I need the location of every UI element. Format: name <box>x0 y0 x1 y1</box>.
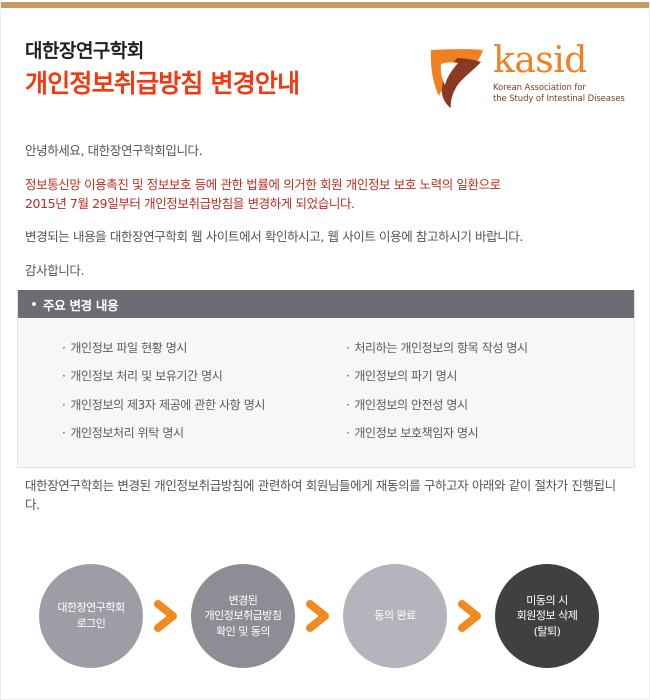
flow-step-line: 변경된 <box>205 593 282 609</box>
list-item: ·개인정보 처리 및 보유기간 명시 <box>62 368 326 385</box>
flow-step-line: 개인정보취급방침 <box>205 608 282 624</box>
main-changes-panel: 주요 변경 내용 ·개인정보 파일 현황 명시 ·개인정보 처리 및 보유기간 … <box>17 290 635 468</box>
flow-step-line: 미동의 시 <box>517 593 578 609</box>
flow-step-review-consent: 변경된 개인정보취급방침 확인 및 동의 <box>191 564 295 668</box>
page-title: 개인정보취급방침 변경안내 <box>25 68 299 101</box>
flow-step-line: 회원정보 삭제 <box>517 608 578 624</box>
flow-step-withdrawal: 미동의 시 회원정보 삭제 (탈퇴) <box>495 564 599 668</box>
kasid-ribbon-logo-icon <box>427 44 489 110</box>
bullet-dot-icon: · <box>62 426 65 440</box>
intro-section: 안녕하세요, 대한장연구학회입니다. 정보통신망 이용촉진 및 정보보호 등에 … <box>25 142 629 281</box>
privacy-policy-notice-page: 대한장연구학회 개인정보취급방침 변경안내 kasid Korean Assoc… <box>0 0 650 700</box>
notice-paragraph: 정보통신망 이용촉진 및 정보보호 등에 관한 법률에 의거한 회원 개인정보 … <box>25 176 629 214</box>
logo-tagline: Korean Association for the Study of Inte… <box>493 83 625 105</box>
thanks-paragraph: 감사합니다. <box>25 262 629 281</box>
bullet-dot-icon: · <box>346 341 349 355</box>
flow-step-line: 동의 완료 <box>374 608 415 624</box>
panel-title: 주요 변경 내용 <box>43 295 118 314</box>
list-item-label: 처리하는 개인정보의 항목 작성 명시 <box>354 341 527 355</box>
flow-step-label: 변경된 개인정보취급방침 확인 및 동의 <box>199 593 288 640</box>
flow-step-line: 확인 및 동의 <box>205 624 282 640</box>
flow-step-login: 대한장연구학회 로그인 <box>39 564 143 668</box>
logo-tagline-line1: Korean Association for <box>493 83 625 94</box>
flow-step-label: 미동의 시 회원정보 삭제 (탈퇴) <box>511 593 584 640</box>
bullet-dot-icon: · <box>346 426 349 440</box>
panel-bullet-icon <box>32 302 36 306</box>
panel-body: ·개인정보 파일 현황 명시 ·개인정보 처리 및 보유기간 명시 ·개인정보의… <box>18 318 634 467</box>
flow-step-line: 로그인 <box>57 616 124 632</box>
logo-text-block: kasid Korean Association for the Study o… <box>493 44 625 106</box>
list-item: ·개인정보의 파기 명시 <box>346 368 634 385</box>
chevron-right-icon <box>153 600 179 632</box>
header-titles: 대한장연구학회 개인정보취급방침 변경안내 <box>25 40 299 100</box>
flow-step-line: (탈퇴) <box>517 624 578 640</box>
organization-name: 대한장연구학회 <box>25 40 299 64</box>
panel-column-right: ·처리하는 개인정보의 항목 작성 명시 ·개인정보의 파기 명시 ·개인정보의… <box>326 340 634 443</box>
list-item-label: 개인정보 파일 현황 명시 <box>70 341 187 355</box>
bullet-dot-icon: · <box>62 398 65 412</box>
flow-step-label: 동의 완료 <box>368 608 421 624</box>
list-item: ·개인정보처리 위탁 명시 <box>62 425 326 442</box>
chevron-right-icon <box>305 600 331 632</box>
bullet-dot-icon: · <box>346 369 349 383</box>
flow-step-label: 대한장연구학회 로그인 <box>51 600 130 631</box>
list-item-label: 개인정보의 안전성 명시 <box>354 398 467 412</box>
top-accent-bar <box>1 2 650 8</box>
closing-paragraph: 대한장연구학회는 변경된 개인정보취급방침에 관련하여 회원님들에게 재동의를 … <box>25 476 629 515</box>
panel-column-left: ·개인정보 파일 현황 명시 ·개인정보 처리 및 보유기간 명시 ·개인정보의… <box>18 340 326 443</box>
flow-step-line: 대한장연구학회 <box>57 600 124 616</box>
page-header: 대한장연구학회 개인정보취급방침 변경안내 kasid Korean Assoc… <box>1 36 650 120</box>
list-item-label: 개인정보의 파기 명시 <box>354 369 457 383</box>
flow-step-consent-complete: 동의 완료 <box>343 564 447 668</box>
panel-header: 주요 변경 내용 <box>18 290 634 318</box>
list-item: ·개인정보 파일 현황 명시 <box>62 340 326 357</box>
list-item-label: 개인정보 보호책임자 명시 <box>354 426 478 440</box>
list-item: ·개인정보의 제3자 제공에 관한 사항 명시 <box>62 397 326 414</box>
list-item: ·개인정보의 안전성 명시 <box>346 397 634 414</box>
bullet-dot-icon: · <box>346 398 349 412</box>
list-item: ·처리하는 개인정보의 항목 작성 명시 <box>346 340 634 357</box>
notice-line-2: 2015년 7월 29일부터 개인정보취급방침을 변경하게 되었습니다. <box>25 196 355 211</box>
bullet-dot-icon: · <box>62 341 65 355</box>
list-item-label: 개인정보의 제3자 제공에 관한 사항 명시 <box>70 398 265 412</box>
notice-line-1: 정보통신망 이용촉진 및 정보보호 등에 관한 법률에 의거한 회원 개인정보 … <box>25 177 501 192</box>
consent-flow-diagram: 대한장연구학회 로그인 변경된 개인정보취급방침 확인 및 동의 동의 완료 <box>1 556 650 672</box>
guide-paragraph: 변경되는 내용을 대한장연구학회 웹 사이트에서 확인하시고, 웹 사이트 이용… <box>25 228 629 247</box>
list-item-label: 개인정보처리 위탁 명시 <box>70 426 183 440</box>
greeting-paragraph: 안녕하세요, 대한장연구학회입니다. <box>25 142 629 161</box>
list-item-label: 개인정보 처리 및 보유기간 명시 <box>70 369 222 383</box>
logo-wordmark: kasid <box>493 44 625 78</box>
kasid-logo: kasid Korean Association for the Study o… <box>427 42 617 116</box>
list-item: ·개인정보 보호책임자 명시 <box>346 425 634 442</box>
chevron-right-icon <box>457 600 483 632</box>
bullet-dot-icon: · <box>62 369 65 383</box>
logo-tagline-line2: the Study of Intestinal Diseases <box>493 94 625 105</box>
